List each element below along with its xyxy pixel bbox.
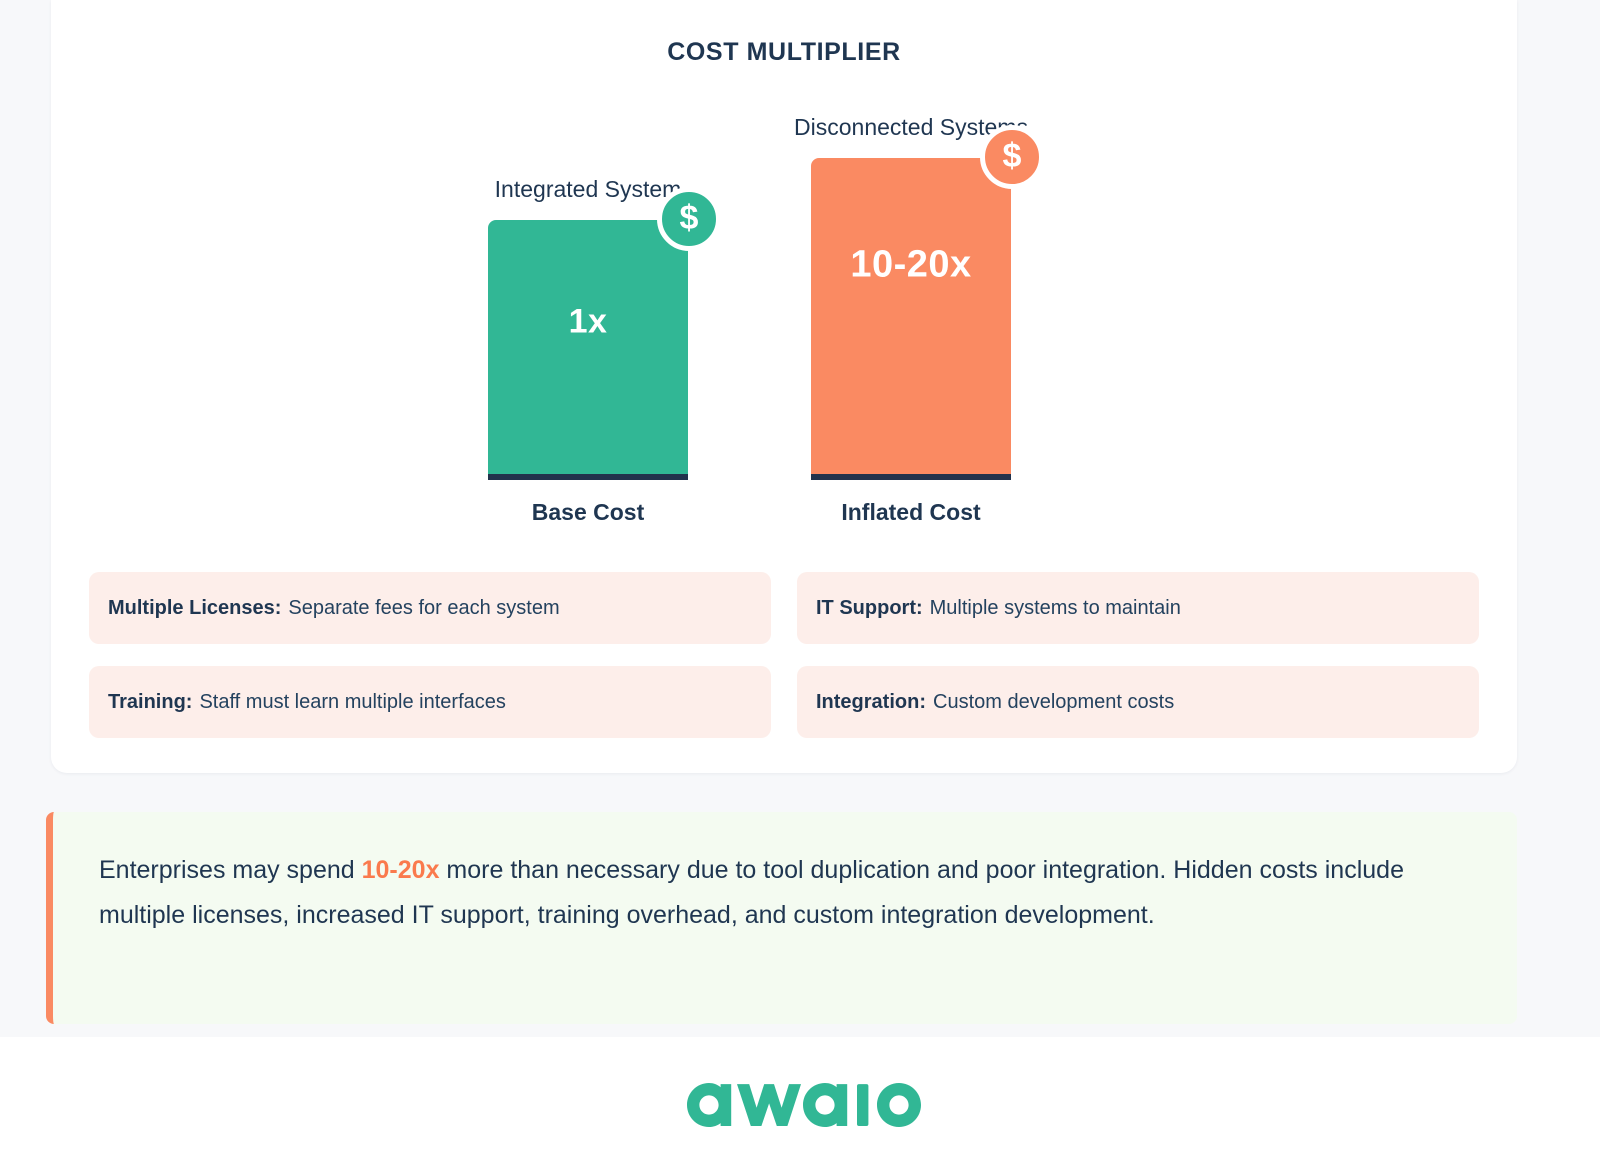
summary-callout: Enterprises may spend 10-20x more than n…: [46, 812, 1517, 1024]
bar-integrated-system: 1x $: [488, 220, 688, 480]
cost-item-text: Multiple systems to maintain: [930, 597, 1181, 620]
cost-item-label: Multiple Licenses:: [108, 597, 281, 620]
bar-baseline-orange: [811, 474, 1011, 480]
cost-item-it-support: IT Support: Multiple systems to maintain: [797, 572, 1479, 644]
cost-item-text: Separate fees for each system: [288, 597, 559, 620]
bar-body-orange: 10-20x: [811, 158, 1011, 474]
bar-value-inflated: 10-20x: [811, 244, 1011, 287]
dollar-badge-icon-orange: $: [980, 125, 1044, 189]
dollar-glyph: $: [680, 201, 699, 235]
cost-item-multiple-licenses: Multiple Licenses: Separate fees for eac…: [89, 572, 771, 644]
cost-item-label: IT Support:: [816, 597, 923, 620]
bar-chart: Integrated System 1x $ Base Cost Disconn…: [51, 96, 1517, 526]
bar-caption-inflated-cost: Inflated Cost: [781, 499, 1041, 526]
dollar-glyph: $: [1003, 139, 1022, 173]
bar-value-base: 1x: [488, 302, 688, 341]
cost-multiplier-card: COST MULTIPLIER Integrated System 1x $ B…: [51, 0, 1517, 773]
hidden-cost-list: Multiple Licenses: Separate fees for eac…: [89, 572, 1479, 738]
callout-lead-text: Enterprises may spend: [99, 856, 362, 884]
page-title: COST MULTIPLIER: [51, 38, 1517, 67]
bar-caption-base-cost: Base Cost: [458, 499, 718, 526]
dollar-badge-icon-green: $: [657, 187, 721, 251]
cost-item-label: Integration:: [816, 691, 926, 714]
callout-paragraph: Enterprises may spend 10-20x more than n…: [99, 848, 1475, 937]
cost-item-label: Training:: [108, 691, 192, 714]
infographic-page: COST MULTIPLIER Integrated System 1x $ B…: [0, 0, 1600, 1173]
cost-item-text: Custom development costs: [933, 691, 1174, 714]
callout-highlight: 10-20x: [362, 856, 440, 884]
cost-item-text: Staff must learn multiple interfaces: [199, 691, 505, 714]
cost-item-training: Training: Staff must learn multiple inte…: [89, 666, 771, 738]
awaio-logo: [678, 1069, 922, 1141]
bar-disconnected-systems: 10-20x $: [811, 158, 1011, 480]
footer: [0, 1037, 1600, 1173]
bar-body-green: 1x: [488, 220, 688, 474]
cost-item-integration: Integration: Custom development costs: [797, 666, 1479, 738]
awaio-logo-icon: [678, 1069, 922, 1141]
bar-baseline-green: [488, 474, 688, 480]
